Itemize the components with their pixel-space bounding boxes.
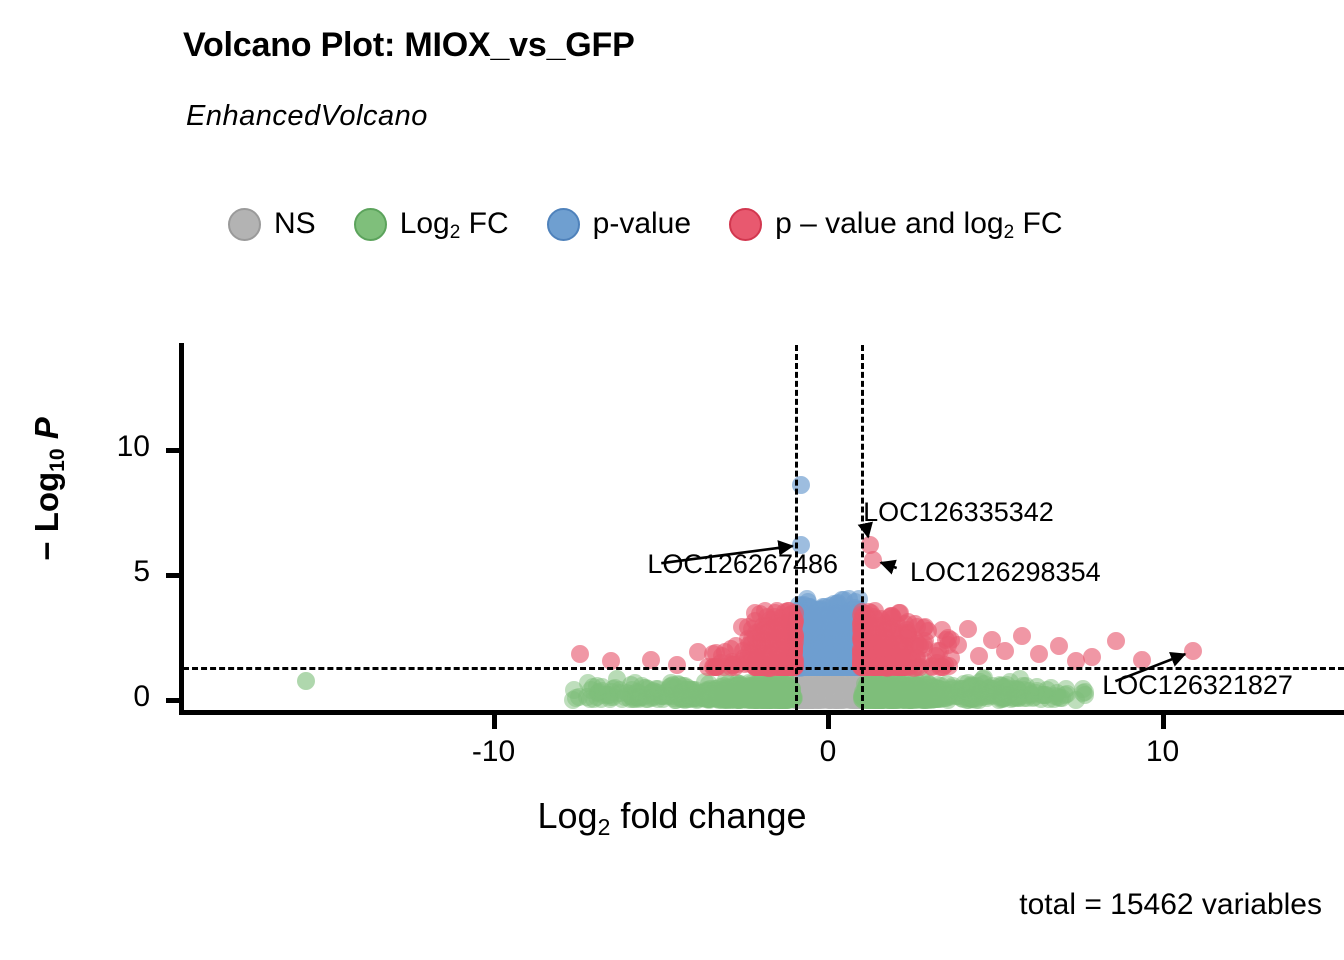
x-tick-label: 10: [1118, 735, 1208, 769]
y-tick: [166, 573, 180, 578]
y-tick-label: 10: [90, 430, 150, 464]
data-point: [734, 688, 752, 706]
legend-label-both: p – value and log2 FC: [775, 209, 1062, 239]
data-point: [1027, 684, 1045, 702]
x-tick-label: -10: [449, 735, 539, 769]
x-tick: [492, 715, 497, 729]
legend-label-ns: NS: [274, 209, 316, 239]
y-tick-label: 0: [90, 680, 150, 714]
ns-swatch-icon: [228, 208, 261, 241]
scatter-plot-canvas: [183, 345, 1338, 712]
legend-item-both[interactable]: p – value and log2 FC: [729, 208, 1100, 241]
legend-item-log2fc[interactable]: Log2 FC: [354, 208, 547, 241]
y-tick: [166, 698, 180, 703]
data-point: [1008, 688, 1026, 706]
y-axis-title: − Log10 P: [28, 324, 66, 654]
page-title: Volcano Plot: MIOX_vs_GFP: [183, 26, 635, 65]
legend-item-pvalue[interactable]: p-value: [547, 208, 729, 241]
pvalue-swatch-icon: [547, 208, 580, 241]
data-point: [297, 672, 315, 690]
legend-label-pvalue: p-value: [593, 209, 691, 239]
data-point: [622, 676, 640, 694]
legend-item-ns[interactable]: NS: [228, 208, 354, 241]
data-point: [911, 689, 929, 707]
x-tick: [826, 715, 831, 729]
legend-label-log2fc: Log2 FC: [400, 209, 509, 239]
x-axis-title: Log2 fold change: [0, 795, 1344, 837]
data-point: [970, 691, 988, 709]
page-subtitle: EnhancedVolcano: [186, 100, 428, 133]
x-tick: [1161, 715, 1166, 729]
y-tick: [166, 448, 180, 453]
data-point: [1049, 688, 1067, 706]
data-point: [928, 683, 946, 701]
data-point: [647, 680, 665, 698]
both-swatch-icon: [729, 208, 762, 241]
log2fc-swatch-icon: [354, 208, 387, 241]
legend: NS Log2 FC p-value p – value and log2 FC: [228, 198, 1100, 250]
y-tick-label: 5: [90, 555, 150, 589]
x-tick-label: 0: [783, 735, 873, 769]
data-point: [830, 690, 848, 708]
